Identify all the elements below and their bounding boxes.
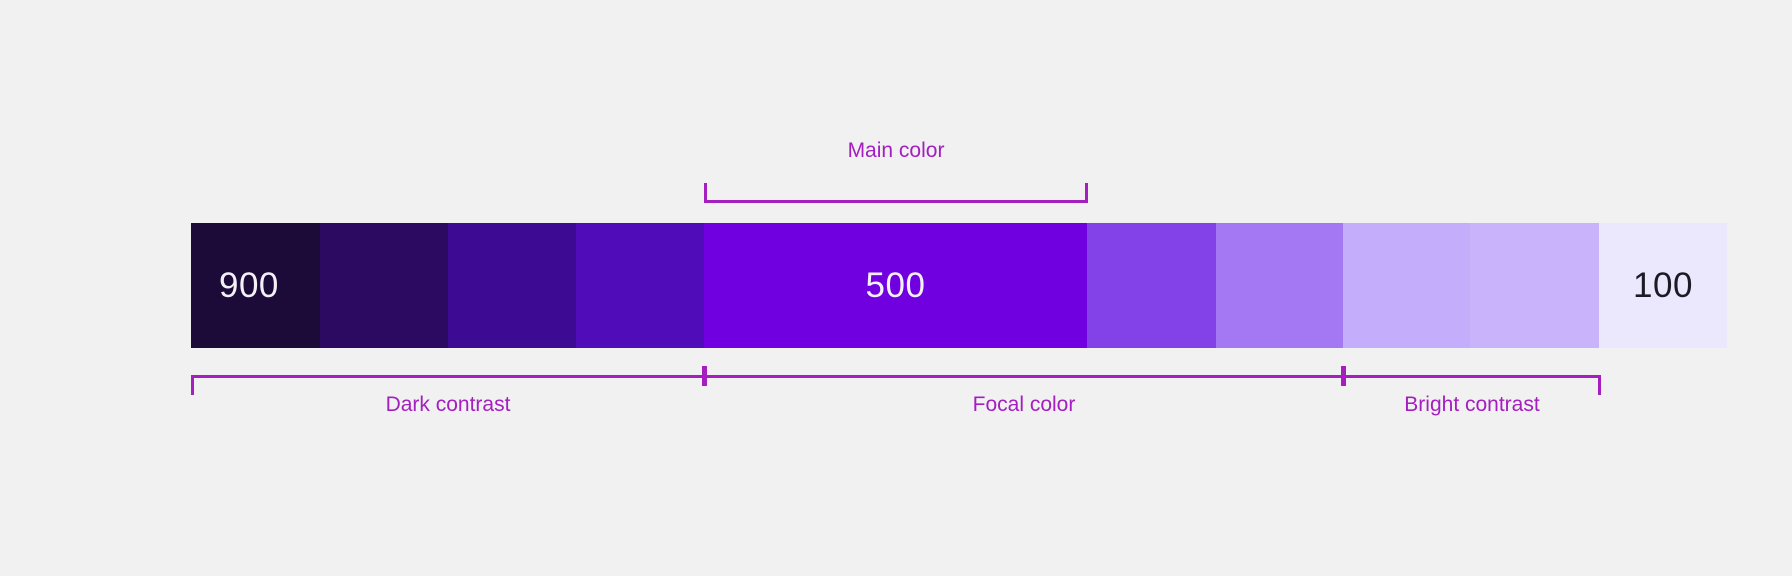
swatch-200[interactable]	[1343, 223, 1470, 348]
swatch-150[interactable]	[1470, 223, 1599, 348]
bracket-tick-left	[191, 375, 194, 395]
label-main-color: Main color	[848, 140, 945, 161]
color-scale-diagram: Main color 900 500 10	[0, 0, 1792, 576]
bracket-tick-right	[1598, 375, 1601, 395]
swatch-800[interactable]	[320, 223, 448, 348]
bracket-rule	[704, 200, 1088, 203]
bracket-rule	[1343, 375, 1601, 378]
swatch-400[interactable]	[1087, 223, 1216, 348]
bracket-rule	[191, 375, 705, 378]
label-focal-color: Focal color	[973, 394, 1076, 415]
swatch-600[interactable]	[576, 223, 704, 348]
swatch-700[interactable]	[448, 223, 576, 348]
swatch-strip: 900 500 100	[191, 223, 1600, 348]
swatch-100[interactable]: 100	[1599, 223, 1727, 348]
swatch-300[interactable]	[1216, 223, 1343, 348]
swatch-label-900: 900	[219, 268, 279, 303]
swatch-900[interactable]: 900	[191, 223, 320, 348]
swatch-label-500: 500	[866, 268, 926, 303]
label-dark-contrast: Dark contrast	[386, 394, 511, 415]
bracket-bright-contrast	[1343, 375, 1601, 395]
swatch-500[interactable]: 500	[704, 223, 1087, 348]
bracket-tick-right	[1085, 183, 1088, 203]
swatch-label-100: 100	[1633, 268, 1693, 303]
label-bright-contrast: Bright contrast	[1404, 394, 1539, 415]
bracket-focal-color	[704, 375, 1344, 395]
bracket-rule	[704, 375, 1344, 378]
bracket-main-color	[704, 183, 1088, 203]
bracket-dark-contrast	[191, 375, 705, 395]
